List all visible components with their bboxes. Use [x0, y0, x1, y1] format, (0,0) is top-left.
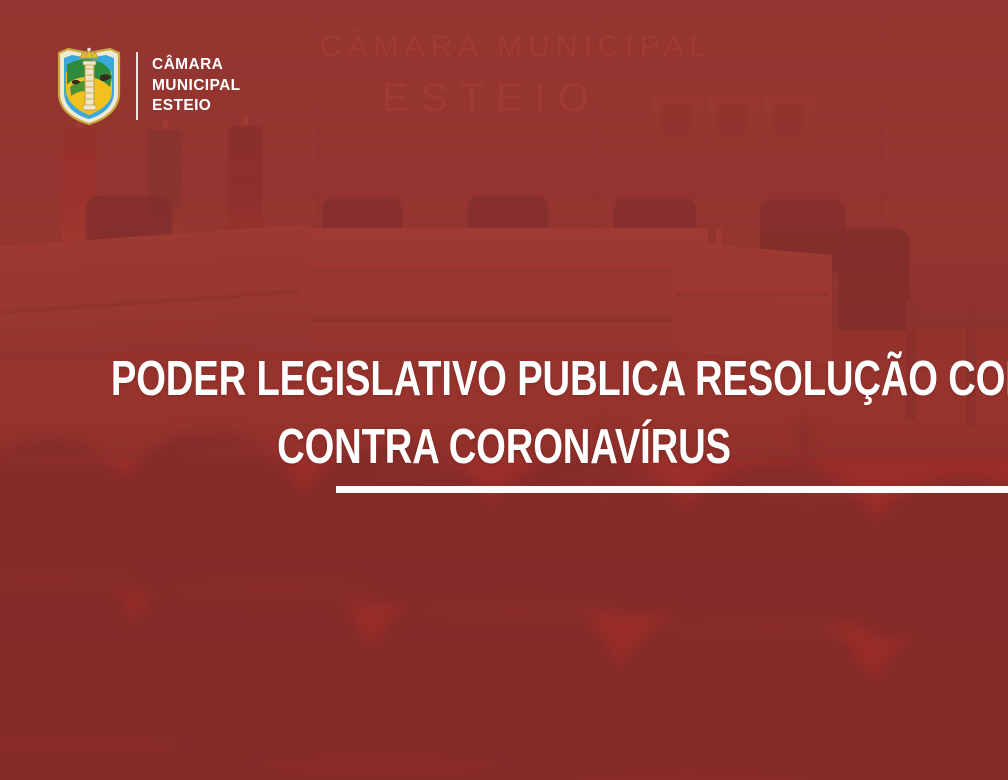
brand-line-municipal: MUNICIPAL: [152, 76, 241, 96]
brand-text: CÂMARA MUNICIPAL ESTEIO: [152, 55, 241, 116]
brand-line-camara: CÂMARA: [152, 55, 241, 75]
title-underline-rule: [336, 486, 1008, 493]
headline-line-2: CONTRA CORONAVÍRUS: [111, 413, 897, 481]
brand-lockup[interactable]: CÂMARA MUNICIPAL ESTEIO: [56, 47, 241, 125]
brand-line-esteio: ESTEIO: [152, 96, 241, 116]
coat-of-arms-shield-icon: [56, 47, 122, 125]
news-banner: CÂMARA MUNICIPAL ESTEIO: [0, 0, 1008, 780]
vertical-divider-icon: [136, 52, 138, 120]
headline-line-1: PODER LEGISLATIVO PUBLICA RESOLUÇÃO COM …: [111, 345, 897, 413]
page-title: PODER LEGISLATIVO PUBLICA RESOLUÇÃO COM …: [111, 345, 897, 481]
